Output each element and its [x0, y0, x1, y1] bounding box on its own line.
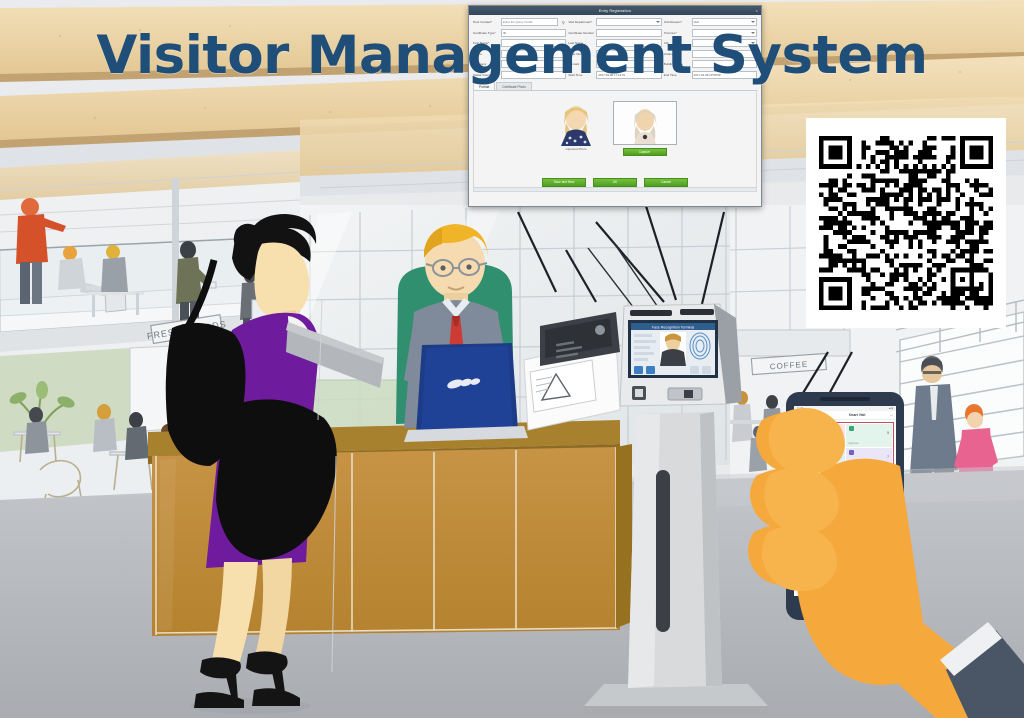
field-label: First Name* — [473, 41, 499, 45]
screenshot-root: FRESH SALADS — [0, 0, 1024, 718]
field-city[interactable]: City — [664, 39, 757, 47]
photo-panel: Captured Photo Capt — [473, 91, 757, 192]
form-row: Company Remark Building Code — [473, 60, 757, 68]
visit-reason-select[interactable]: Visit — [692, 18, 757, 26]
required-marker: * — [491, 20, 492, 24]
phone-input[interactable] — [501, 50, 566, 58]
photo-area: Captured Photo Capt — [474, 101, 756, 156]
field-label: Building Code — [664, 62, 690, 66]
required-marker: * — [488, 41, 489, 45]
certificate-type-input[interactable]: ID — [501, 29, 566, 37]
field-remark[interactable]: Remark — [568, 60, 661, 68]
field-label: Visitor Count — [473, 73, 499, 77]
field-host-contact[interactable]: Host Contact* Enter the Query Condit ⚲ — [473, 18, 566, 26]
required-marker: * — [676, 31, 677, 35]
end-time-input[interactable]: 2017-03-08 23:59:59 — [692, 71, 757, 79]
field-certificate-number[interactable]: Certificate Number* — [568, 29, 661, 37]
first-name-input[interactable] — [501, 39, 566, 47]
photo-tabs[interactable]: Portrait Certificate Photo — [473, 82, 757, 91]
cancel-button[interactable]: Cancel — [644, 178, 688, 187]
captured-photo-label: Captured Photo — [565, 147, 586, 151]
field-visitor-count[interactable]: Visitor Count — [473, 71, 566, 79]
company-input[interactable] — [501, 60, 566, 68]
dialog-form: Host Contact* Enter the Query Condit ⚲ V… — [469, 15, 761, 79]
visiting-time-input[interactable] — [692, 50, 757, 58]
field-plate-number[interactable]: Plate Number — [568, 50, 661, 58]
status-bar — [474, 187, 756, 191]
field-label: Host Contact* — [473, 20, 499, 24]
field-label: Last Name — [568, 41, 594, 45]
capture-column: Capture — [613, 101, 677, 156]
tab-certificate-photo[interactable]: Certificate Photo — [496, 82, 532, 90]
form-row: Phone Plate Number Visiting Time — [473, 50, 757, 58]
field-label: Certificate Type* — [473, 31, 499, 35]
field-province[interactable]: Province* — [664, 29, 757, 37]
qr-code-card — [806, 118, 1006, 328]
tab-portrait[interactable]: Portrait — [473, 82, 495, 90]
visitor-count-input[interactable] — [501, 71, 566, 79]
required-marker: * — [494, 31, 495, 35]
field-last-name[interactable]: Last Name — [568, 39, 661, 47]
search-icon[interactable]: ⚲ — [560, 19, 566, 25]
visit-department-select[interactable] — [596, 18, 661, 26]
form-row: First Name* Last Name City — [473, 39, 757, 47]
field-visit-department[interactable]: Visit Department* — [568, 18, 661, 26]
field-label: Visit Department* — [568, 20, 594, 24]
field-end-time[interactable]: End Time 2017-03-08 23:59:59 — [664, 71, 757, 79]
dialog-title: Entry Registration — [599, 9, 631, 13]
remark-input[interactable] — [596, 60, 661, 68]
captured-photo-column: Captured Photo — [554, 101, 599, 152]
field-visiting-time[interactable]: Visiting Time — [664, 50, 757, 58]
city-select[interactable] — [692, 39, 757, 47]
form-row: Host Contact* Enter the Query Condit ⚲ V… — [473, 18, 757, 26]
field-visit-reason[interactable]: Visit Reason* Visit — [664, 18, 757, 26]
certificate-number-input[interactable] — [596, 29, 661, 37]
field-label: Plate Number — [568, 52, 594, 56]
field-certificate-type[interactable]: Certificate Type* ID — [473, 29, 566, 37]
hand-holding-phone — [740, 370, 1024, 718]
field-first-name[interactable]: First Name* — [473, 39, 566, 47]
qr-code[interactable] — [819, 136, 993, 310]
field-label: Province* — [664, 31, 690, 35]
close-icon[interactable]: × — [755, 8, 758, 13]
field-label: Visit Reason* — [664, 20, 690, 24]
required-marker: * — [681, 20, 682, 24]
field-start-time[interactable]: Start Time 2017-03-08 17:13:31 — [568, 71, 661, 79]
live-capture-frame — [613, 101, 677, 145]
field-label: Certificate Number* — [568, 31, 594, 35]
plate-number-input[interactable] — [596, 50, 661, 58]
form-row: Certificate Type* ID Certificate Number*… — [473, 29, 757, 37]
field-label: Visiting Time — [664, 52, 690, 56]
field-phone[interactable]: Phone — [473, 50, 566, 58]
capture-button[interactable]: Capture — [623, 148, 667, 156]
field-label: Phone — [473, 52, 499, 56]
laptop — [404, 343, 528, 442]
field-label: City — [664, 41, 690, 45]
field-label: Remark — [568, 62, 594, 66]
entry-registration-dialog[interactable]: Entry Registration × Host Contact* Enter… — [468, 5, 762, 207]
field-building-code[interactable]: Building Code — [664, 60, 757, 68]
last-name-input[interactable] — [596, 39, 661, 47]
save-and-new-button[interactable]: Save and New — [542, 178, 586, 187]
field-label: End Time — [664, 73, 690, 77]
dialog-titlebar: Entry Registration × — [469, 6, 761, 15]
field-label: Start Time — [568, 73, 594, 77]
svg-text:Face Recognition Terminal: Face Recognition Terminal — [652, 326, 695, 330]
field-label: Company — [473, 62, 499, 66]
building-code-input[interactable] — [692, 60, 757, 68]
field-company[interactable]: Company — [473, 60, 566, 68]
form-row: Visitor Count Start Time 2017-03-08 17:1… — [473, 71, 757, 79]
captured-photo — [554, 101, 599, 146]
dialog-footer: Save and New OK Cancel — [474, 178, 756, 187]
province-select[interactable] — [692, 29, 757, 37]
required-marker: * — [591, 20, 592, 24]
ok-button[interactable]: OK — [593, 178, 637, 187]
start-time-input[interactable]: 2017-03-08 17:13:31 — [596, 71, 661, 79]
host-contact-input[interactable]: Enter the Query Condit — [501, 18, 558, 26]
